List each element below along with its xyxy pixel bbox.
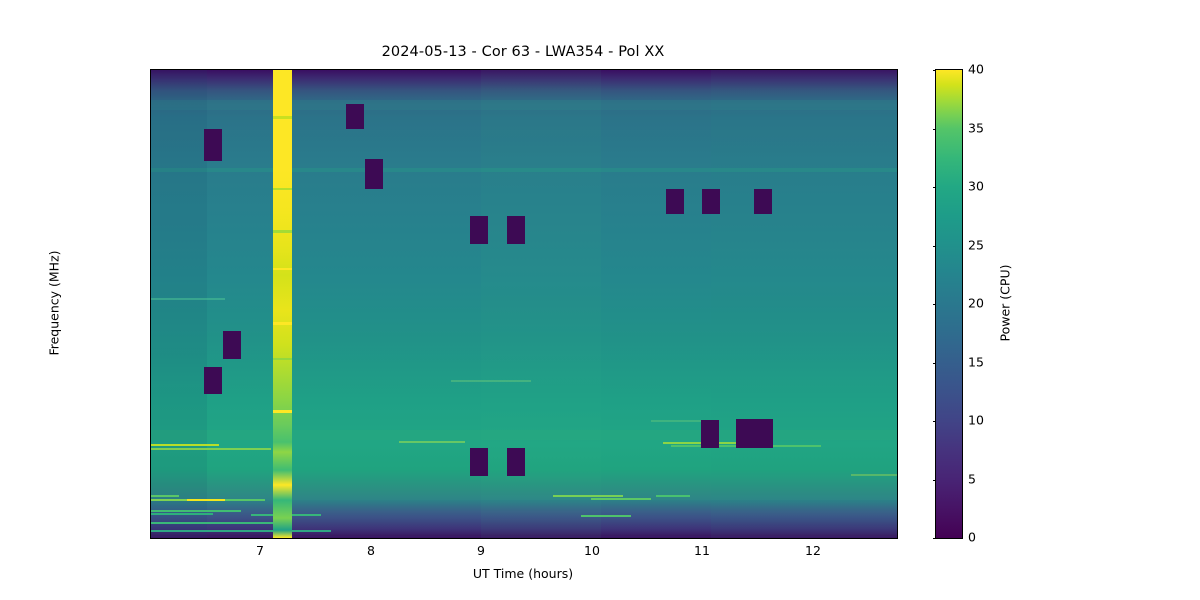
colorbar-tick-mark [933, 538, 937, 539]
masked-block [666, 189, 684, 214]
colorbar-tick-mark [933, 246, 937, 247]
page-title: 2024-05-13 - Cor 63 - LWA354 - Pol XX [150, 44, 896, 60]
y-tick-mark [150, 485, 151, 486]
y-tick-mark [150, 359, 151, 360]
rfi-streak [151, 448, 271, 450]
colorbar-gradient [936, 70, 962, 538]
colorbar-tick-mark [933, 421, 937, 422]
column-shade-b [481, 70, 601, 538]
rfi-streak [581, 515, 631, 517]
colorbar-axis-label: Power (CPU) [998, 265, 1013, 342]
burst-texture [273, 410, 292, 413]
rfi-streak [553, 495, 623, 497]
y-tick-mark [150, 422, 151, 423]
rfi-streak-faint [851, 474, 897, 476]
column-shade-c [711, 70, 897, 538]
masked-block [701, 420, 719, 448]
rfi-streak [656, 495, 690, 497]
rfi-streak [151, 510, 241, 512]
colorbar-tick-label: 20 [968, 296, 984, 311]
masked-block [204, 129, 222, 161]
colorbar-tick-label: 5 [968, 471, 976, 486]
masked-block [736, 419, 773, 448]
x-tick-mark [261, 538, 262, 539]
burst-texture [273, 358, 292, 360]
figure-canvas: 2024-05-13 - Cor 63 - LWA354 - Pol XX [0, 0, 1200, 600]
colorbar-tick-label: 0 [968, 530, 976, 545]
burst-texture [273, 268, 292, 270]
masked-block [470, 448, 488, 476]
x-tick-mark [593, 538, 594, 539]
colorbar-tick-label: 10 [968, 413, 984, 428]
colorbar[interactable] [935, 69, 963, 539]
colorbar-tick-mark [933, 363, 937, 364]
masked-block [754, 189, 772, 214]
masked-block [223, 331, 241, 359]
x-axis-label: UT Time (hours) [473, 566, 573, 581]
y-tick-mark [150, 233, 151, 234]
spectrogram-image [151, 70, 897, 538]
y-tick-mark [150, 170, 151, 171]
spectrogram-plot[interactable] [150, 69, 898, 539]
masked-block [702, 189, 720, 214]
colorbar-tick-mark [933, 480, 937, 481]
x-tick-label: 8 [367, 543, 375, 558]
rfi-streak [151, 495, 179, 497]
colorbar-tick-label: 30 [968, 179, 984, 194]
colorbar-tick-mark [933, 187, 937, 188]
masked-block [507, 448, 525, 476]
rfi-streak-faint [151, 298, 225, 300]
burst-texture [273, 322, 292, 325]
x-tick-label: 11 [694, 543, 710, 558]
colorbar-tick-label: 25 [968, 237, 984, 252]
column-shade-a [151, 70, 207, 538]
y-tick-mark [150, 296, 151, 297]
masked-block [470, 216, 488, 244]
rfi-streak [151, 522, 291, 524]
masked-block [204, 367, 222, 394]
x-tick-label: 12 [805, 543, 821, 558]
rfi-streak [399, 441, 465, 443]
x-tick-label: 7 [256, 543, 264, 558]
rfi-streak [151, 444, 219, 446]
burst-texture [273, 188, 292, 190]
x-tick-label: 10 [584, 543, 600, 558]
colorbar-tick-label: 15 [968, 354, 984, 369]
x-tick-mark [703, 538, 704, 539]
colorbar-tick-label: 40 [968, 62, 984, 77]
x-tick-mark [372, 538, 373, 539]
colorbar-tick-label: 35 [968, 120, 984, 135]
rfi-streak [151, 513, 213, 515]
rfi-streak-bright [151, 498, 897, 500]
burst-column [273, 70, 292, 538]
burst-texture [273, 116, 292, 119]
masked-block [507, 216, 525, 244]
rfi-streak-faint [451, 380, 531, 382]
x-tick-label: 9 [477, 543, 485, 558]
colorbar-tick-mark [933, 70, 937, 71]
burst-texture [273, 230, 292, 233]
masked-block [365, 159, 383, 189]
rfi-streak [151, 530, 331, 532]
x-tick-mark [814, 538, 815, 539]
x-tick-mark [482, 538, 483, 539]
colorbar-tick-mark [933, 304, 937, 305]
masked-block [346, 104, 364, 129]
y-axis-label: Frequency (MHz) [47, 250, 62, 355]
y-tick-mark [150, 517, 151, 518]
colorbar-tick-mark [933, 129, 937, 130]
